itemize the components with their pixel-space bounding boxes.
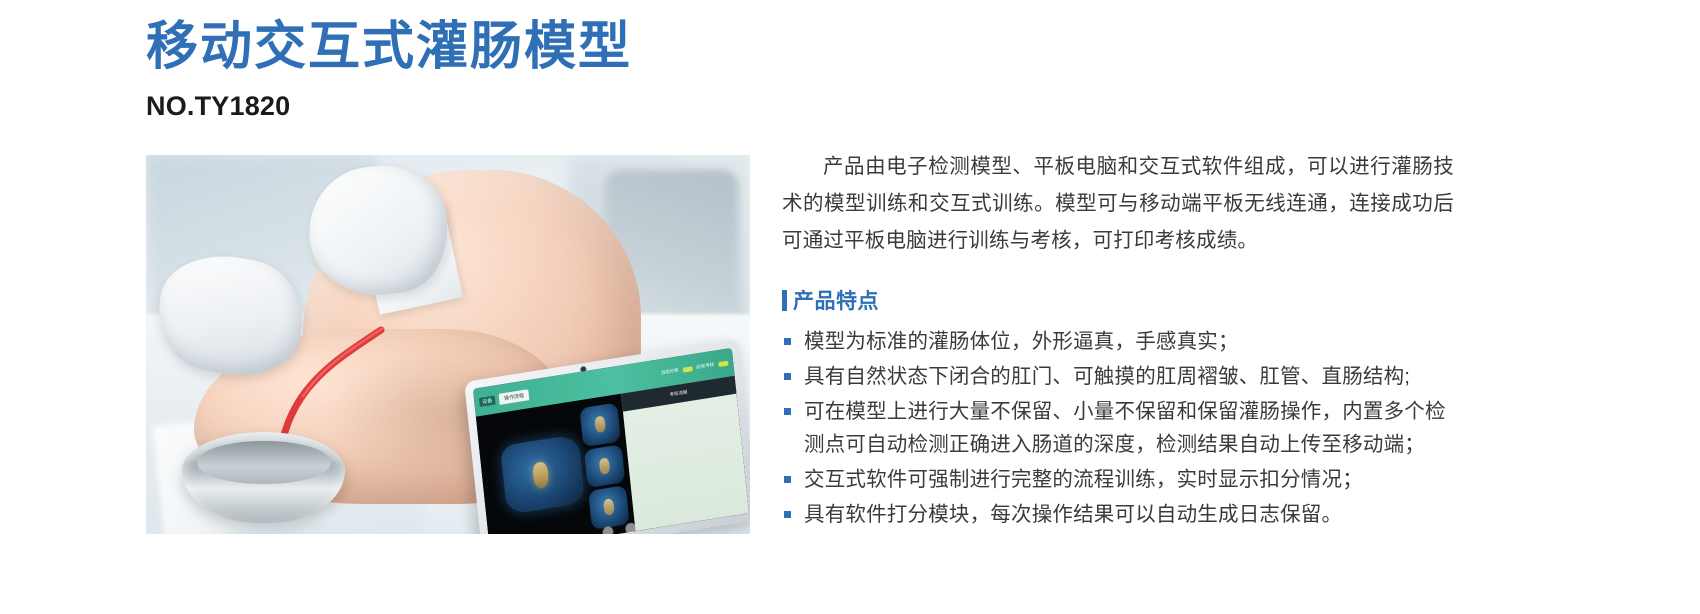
basin-inner: [197, 441, 331, 485]
feature-text: 可在模型上进行大量不保留、小量不保留和保留灌肠操作，内置多个检测点可自动检测正确…: [804, 400, 1446, 456]
bullet-square-icon: [784, 373, 791, 380]
product-description: 产品由电子检测模型、平板电脑和交互式软件组成，可以进行灌肠技术的模型训练和交互式…: [782, 148, 1454, 259]
steel-basin: [182, 432, 345, 523]
feature-text: 模型为标准的灌肠体位，外形逼真，手感真实；: [804, 330, 1239, 353]
list-item: 交互式软件可强制进行完整的流程训练，实时显示扣分情况；: [782, 463, 1454, 496]
workflow-tab: 操作流程: [499, 388, 530, 404]
finish-pill: [718, 360, 728, 367]
rectum-lumen: [532, 461, 550, 490]
score-label: 当前分数: [661, 367, 679, 376]
list-item: 模型为标准的灌肠体位，外形逼真，手感真实；: [782, 325, 1454, 358]
back-button-icon: [625, 522, 637, 534]
anatomy-slice: [580, 403, 622, 447]
device-chip: 设备: [479, 395, 496, 406]
product-description-column: 产品由电子检测模型、平板电脑和交互式软件组成，可以进行灌肠技术的模型训练和交互式…: [782, 148, 1454, 533]
toolbar-left-group: 设备 操作流程: [479, 388, 530, 407]
anatomy-slice: [588, 485, 630, 529]
product-photo: 设备 操作流程 当前分数 结束考核: [146, 155, 750, 534]
rectum-3d-model: [500, 434, 585, 515]
anatomy-slice-stack: [580, 403, 630, 530]
list-item: 可在模型上进行大量不保留、小量不保留和保留灌肠操作，内置多个检测点可自动检测正确…: [782, 395, 1454, 461]
page-header: 移动交互式灌肠模型 NO.TY1820: [146, 18, 846, 122]
bullet-square-icon: [784, 511, 791, 518]
list-item: 具有自然状态下闭合的肛门、可触摸的肛周褶皱、肛管、直肠结构;: [782, 360, 1454, 393]
tablet-screen: 设备 操作流程 当前分数 结束考核: [473, 348, 749, 534]
feature-text: 具有自然状态下闭合的肛门、可触摸的肛周褶皱、肛管、直肠结构;: [804, 365, 1410, 388]
procedure-panel: 考核流程: [621, 376, 749, 531]
bullet-square-icon: [784, 408, 791, 415]
bullet-square-icon: [784, 338, 791, 345]
features-list: 模型为标准的灌肠体位，外形逼真，手感真实； 具有自然状态下闭合的肛门、可触摸的肛…: [782, 325, 1454, 531]
feature-text: 具有软件打分模块，每次操作结果可以自动生成日志保留。: [804, 503, 1342, 526]
home-button-icon: [602, 526, 614, 534]
photo-scene: 设备 操作流程 当前分数 结束考核: [146, 155, 750, 534]
list-item: 具有软件打分模块，每次操作结果可以自动生成日志保留。: [782, 498, 1454, 531]
product-brochure-page: 移动交互式灌肠模型 NO.TY1820: [0, 0, 1700, 614]
bullet-square-icon: [784, 476, 791, 483]
toolbar-right-group: 当前分数 结束考核: [661, 359, 729, 376]
feature-text: 交互式软件可强制进行完整的流程训练，实时显示扣分情况；: [804, 468, 1363, 491]
score-pill: [683, 365, 693, 372]
features-title: 产品特点: [793, 285, 879, 315]
page-title: 移动交互式灌肠模型: [146, 18, 846, 78]
anatomy-viewport: [476, 394, 635, 534]
finish-label: 结束考核: [696, 362, 714, 371]
heading-accent-bar: [782, 290, 787, 311]
anatomy-slice: [584, 444, 626, 488]
product-model-code: NO.TY1820: [146, 91, 846, 122]
features-heading: 产品特点: [782, 285, 1454, 315]
